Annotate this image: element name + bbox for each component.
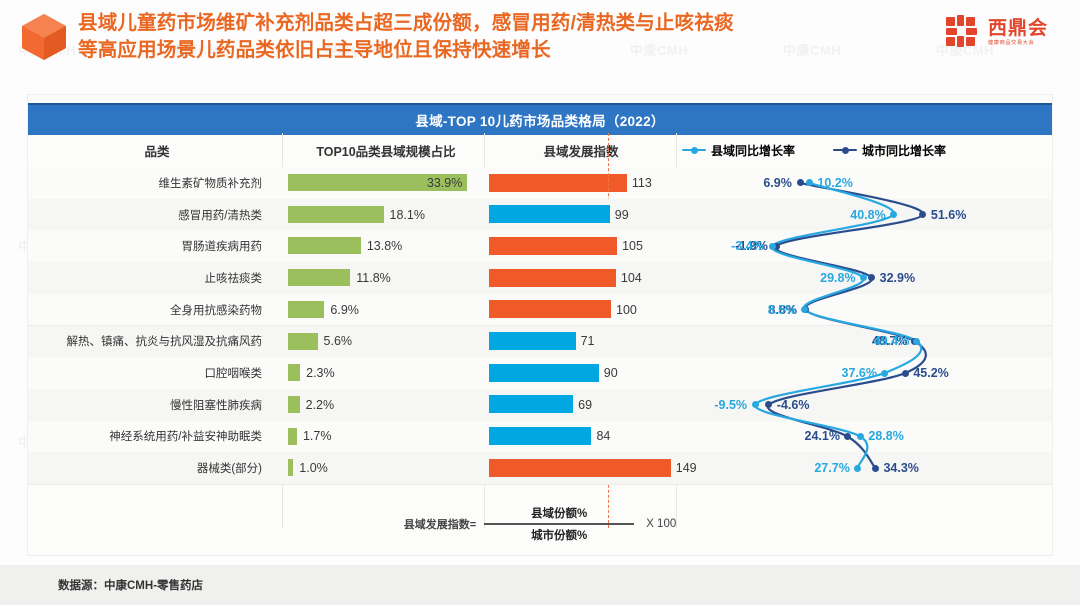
formula-fraction: 县域份额% 城市份额% xyxy=(484,503,634,544)
index-bar-cell: 105 xyxy=(486,230,676,262)
city-growth-label: 32.9% xyxy=(880,271,915,285)
brand-logo: 西鼎会 健康商品交易大会 xyxy=(946,10,1066,56)
category-label: 胃肠道疾病用药 xyxy=(28,230,274,262)
city-growth-label: -4.6% xyxy=(777,398,810,412)
share-bar-cell: 5.6% xyxy=(286,326,486,358)
county-growth-label: 8.5% xyxy=(768,303,797,317)
county-growth-label: 27.7% xyxy=(814,461,849,475)
page-title: 县域儿童药市场维矿补充剂品类占超三成份额，感冒用药/清热类与止咳祛痰 等高应用场… xyxy=(78,10,908,64)
share-value-label: 1.0% xyxy=(299,452,328,484)
category-label: 慢性阻塞性肺疾病 xyxy=(28,389,274,421)
category-label: 解热、镇痛、抗炎与抗风湿及抗痛风药 xyxy=(28,326,274,358)
index-value-label: 71 xyxy=(581,326,595,358)
category-label: 器械类(部分) xyxy=(28,452,274,484)
index-bar xyxy=(489,427,591,445)
category-label: 感冒用药/清热类 xyxy=(28,199,274,231)
logo-tagline: 健康商品交易大会 xyxy=(988,41,1048,46)
index-value-label: 104 xyxy=(621,262,642,294)
index-bar xyxy=(489,332,576,350)
data-source-text: 数据源：中康CMH-零售药店 xyxy=(58,577,203,593)
index-bar xyxy=(489,174,627,192)
page-header: 县域儿童药市场维矿补充剂品类占超三成份额，感冒用药/清热类与止咳祛痰 等高应用场… xyxy=(0,0,1080,78)
share-bar-cell: 2.3% xyxy=(286,357,486,389)
county-growth-label: 37.6% xyxy=(842,366,877,380)
share-value-label: 11.8% xyxy=(356,262,391,294)
city-growth-label: 24.1% xyxy=(805,429,840,443)
share-value-label: 1.7% xyxy=(303,421,332,453)
share-value-label: 2.2% xyxy=(306,389,335,421)
share-bar xyxy=(288,206,384,223)
category-label: 维生素矿物质补充剂 xyxy=(28,167,274,199)
col-header-share: TOP10品类县域规模占比 xyxy=(286,133,486,167)
index-bar-cell: 84 xyxy=(486,421,676,453)
index-bar xyxy=(489,364,599,382)
category-label: 全身用抗感染药物 xyxy=(28,294,274,326)
share-bar-cell: 1.0% xyxy=(286,452,486,484)
index-bar-cell: 69 xyxy=(486,389,676,421)
index-bar-cell: 100 xyxy=(486,294,676,326)
index-value-label: 105 xyxy=(622,230,643,262)
share-value-label: 2.3% xyxy=(306,357,335,389)
city-growth-label: 34.3% xyxy=(883,461,918,475)
index-value-label: 90 xyxy=(604,357,618,389)
index-bar xyxy=(489,395,573,413)
index-bar xyxy=(489,300,611,318)
city-growth-point[interactable] xyxy=(844,433,851,440)
formula-label: 县域发展指数= xyxy=(404,516,476,532)
county-growth-label: 10.2% xyxy=(817,176,852,190)
share-bar xyxy=(288,396,300,413)
share-value-label: 18.1% xyxy=(390,199,425,231)
share-bar-cell: 33.9% xyxy=(286,167,486,199)
city-growth-line xyxy=(768,183,926,468)
index-bar-cell: 113 xyxy=(486,167,676,199)
index-bar-cell: 104 xyxy=(486,262,676,294)
county-growth-point[interactable] xyxy=(854,465,861,472)
share-value-label: 33.9% xyxy=(427,167,462,199)
index-bar xyxy=(489,237,617,255)
col-header-index: 县域发展指数 xyxy=(486,133,676,167)
growth-line-chart: 6.9%51.6%-1.9%32.9%8.8%48.7%45.2%-4.6%24… xyxy=(676,133,1052,528)
index-bar xyxy=(489,205,610,223)
share-bar xyxy=(288,301,324,318)
county-growth-point[interactable] xyxy=(890,211,897,218)
share-bar xyxy=(288,333,318,350)
share-value-label: 5.6% xyxy=(324,326,353,358)
county-growth-line xyxy=(755,183,921,468)
category-label: 止咳祛痰类 xyxy=(28,262,274,294)
share-bar xyxy=(288,428,297,445)
index-bar-cell: 99 xyxy=(486,199,676,231)
share-bar-cell: 6.9% xyxy=(286,294,486,326)
county-growth-label: -9.5% xyxy=(714,398,747,412)
county-growth-point[interactable] xyxy=(857,433,864,440)
formula-block: 县域发展指数= 县域份额% 城市份额% X 100 xyxy=(28,495,1052,553)
index-value-label: 113 xyxy=(632,167,652,199)
page-footer: 数据源：中康CMH-零售药店 xyxy=(0,565,1080,605)
city-growth-label: 51.6% xyxy=(931,208,966,222)
index-value-label: 84 xyxy=(596,421,610,453)
index-bar-cell: 71 xyxy=(486,326,676,358)
share-value-label: 13.8% xyxy=(367,230,402,262)
index-value-label: 100 xyxy=(616,294,637,326)
formula-denominator: 城市份额% xyxy=(509,525,609,545)
logo-name: 西鼎会 xyxy=(988,19,1048,38)
share-bar xyxy=(288,459,293,476)
share-value-label: 6.9% xyxy=(330,294,359,326)
county-growth-label: 28.8% xyxy=(868,429,903,443)
share-bar-cell: 11.8% xyxy=(286,262,486,294)
page-title-line2: 等高应用场景儿药品类依旧占主导地位且保持快速增长 xyxy=(78,37,908,64)
page-title-line1: 县域儿童药市场维矿补充剂品类占超三成份额，感冒用药/清热类与止咳祛痰 xyxy=(78,10,908,37)
category-label: 口腔咽喉类 xyxy=(28,357,274,389)
city-growth-point[interactable] xyxy=(872,465,879,472)
county-growth-point[interactable] xyxy=(881,370,888,377)
share-bar xyxy=(288,269,350,286)
share-bar-cell: 1.7% xyxy=(286,421,486,453)
formula-multiplier: X 100 xyxy=(646,518,676,530)
logo-mark-icon xyxy=(946,15,982,51)
share-bar-cell: 18.1% xyxy=(286,199,486,231)
county-growth-label: 29.8% xyxy=(820,271,855,285)
index-bar-cell: 149 xyxy=(486,452,676,484)
city-growth-point[interactable] xyxy=(902,370,909,377)
index-bar xyxy=(489,459,671,477)
col-header-category: 品类 xyxy=(28,133,286,167)
chart-title: 县域-TOP 10儿药市场品类格局（2022） xyxy=(28,103,1052,135)
share-bar xyxy=(288,237,361,254)
county-growth-label: 40.8% xyxy=(850,208,885,222)
share-bar-cell: 2.2% xyxy=(286,389,486,421)
category-label: 神经系统用药/补益安神助眠类 xyxy=(28,421,274,453)
share-bar xyxy=(288,364,300,381)
share-bar-cell: 13.8% xyxy=(286,230,486,262)
chart-card: 县域-TOP 10儿药市场品类格局（2022） 品类 TOP10品类县域规模占比… xyxy=(28,95,1052,555)
orange-cube-icon xyxy=(18,12,70,62)
growth-lines-svg xyxy=(676,133,1052,528)
index-value-label: 69 xyxy=(578,389,592,421)
index-value-label: 99 xyxy=(615,199,629,231)
city-growth-label: 6.9% xyxy=(763,176,792,190)
county-growth-label: 49.4% xyxy=(874,334,909,348)
county-growth-point[interactable] xyxy=(769,243,776,250)
county-growth-label: -3.4% xyxy=(731,239,764,253)
city-growth-label: 45.2% xyxy=(913,366,948,380)
index-bar-cell: 90 xyxy=(486,357,676,389)
index-bar xyxy=(489,269,616,287)
formula-numerator: 县域份额% xyxy=(509,503,609,523)
